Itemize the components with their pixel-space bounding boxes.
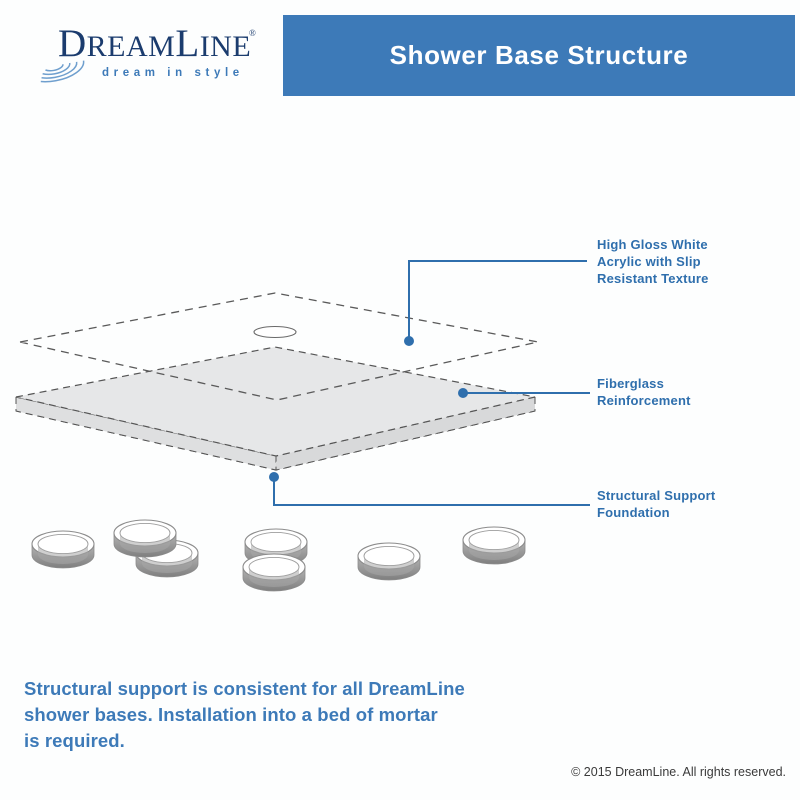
logo-letters-ream: REAM	[87, 30, 176, 63]
drain-opening	[254, 327, 296, 338]
support-ring	[358, 543, 420, 580]
callout-label-fiberglass: Fiberglass Reinforcement	[597, 375, 691, 409]
callout-support-line-2: Foundation	[597, 504, 715, 521]
title-banner: Shower Base Structure	[283, 15, 795, 96]
footer-note-line-3: is required.	[24, 728, 544, 754]
callout-label-acrylic: High Gloss White Acrylic with Slip Resis…	[597, 236, 709, 287]
logo-letters-ine: INE	[200, 30, 251, 63]
registered-trademark-mark: ®	[249, 28, 256, 38]
support-ring	[114, 520, 176, 557]
callout-fiberglass-line-2: Reinforcement	[597, 392, 691, 409]
page-title: Shower Base Structure	[390, 40, 689, 71]
support-ring	[32, 531, 94, 568]
logo-tagline: dream in style	[102, 67, 244, 79]
fiberglass-layer	[16, 347, 535, 470]
dreamline-logo: DREAMLINE ® dream in style	[20, 22, 260, 88]
callout-fiberglass-dot	[458, 388, 468, 398]
callout-acrylic-line-2: Acrylic with Slip	[597, 253, 709, 270]
callout-support-leader	[274, 477, 590, 505]
page-root: DREAMLINE ® dream in style Shower Base S…	[0, 0, 800, 800]
logo-letter-l: L	[175, 22, 199, 65]
support-ring	[463, 527, 525, 564]
copyright-notice: © 2015 DreamLine. All rights reserved.	[571, 765, 786, 779]
callout-acrylic-leader	[409, 261, 587, 341]
footer-note-line-1: Structural support is consistent for all…	[24, 676, 544, 702]
footer-note-line-2: shower bases. Installation into a bed of…	[24, 702, 544, 728]
footer-note: Structural support is consistent for all…	[24, 676, 544, 754]
support-foundation-group	[32, 520, 525, 591]
callout-label-support: Structural Support Foundation	[597, 487, 715, 521]
callout-acrylic-dot	[404, 336, 414, 346]
support-ring	[243, 554, 305, 591]
page-header: DREAMLINE ® dream in style Shower Base S…	[0, 0, 800, 110]
callout-support-line-1: Structural Support	[597, 487, 715, 504]
fiberglass-top-face	[16, 347, 535, 456]
callout-support-dot	[269, 472, 279, 482]
logo-letter-d: D	[58, 22, 87, 65]
callout-acrylic-line-1: High Gloss White	[597, 236, 709, 253]
callout-fiberglass-line-1: Fiberglass	[597, 375, 691, 392]
logo-wordmark: DREAMLINE	[58, 22, 251, 69]
callout-acrylic-line-3: Resistant Texture	[597, 270, 709, 287]
